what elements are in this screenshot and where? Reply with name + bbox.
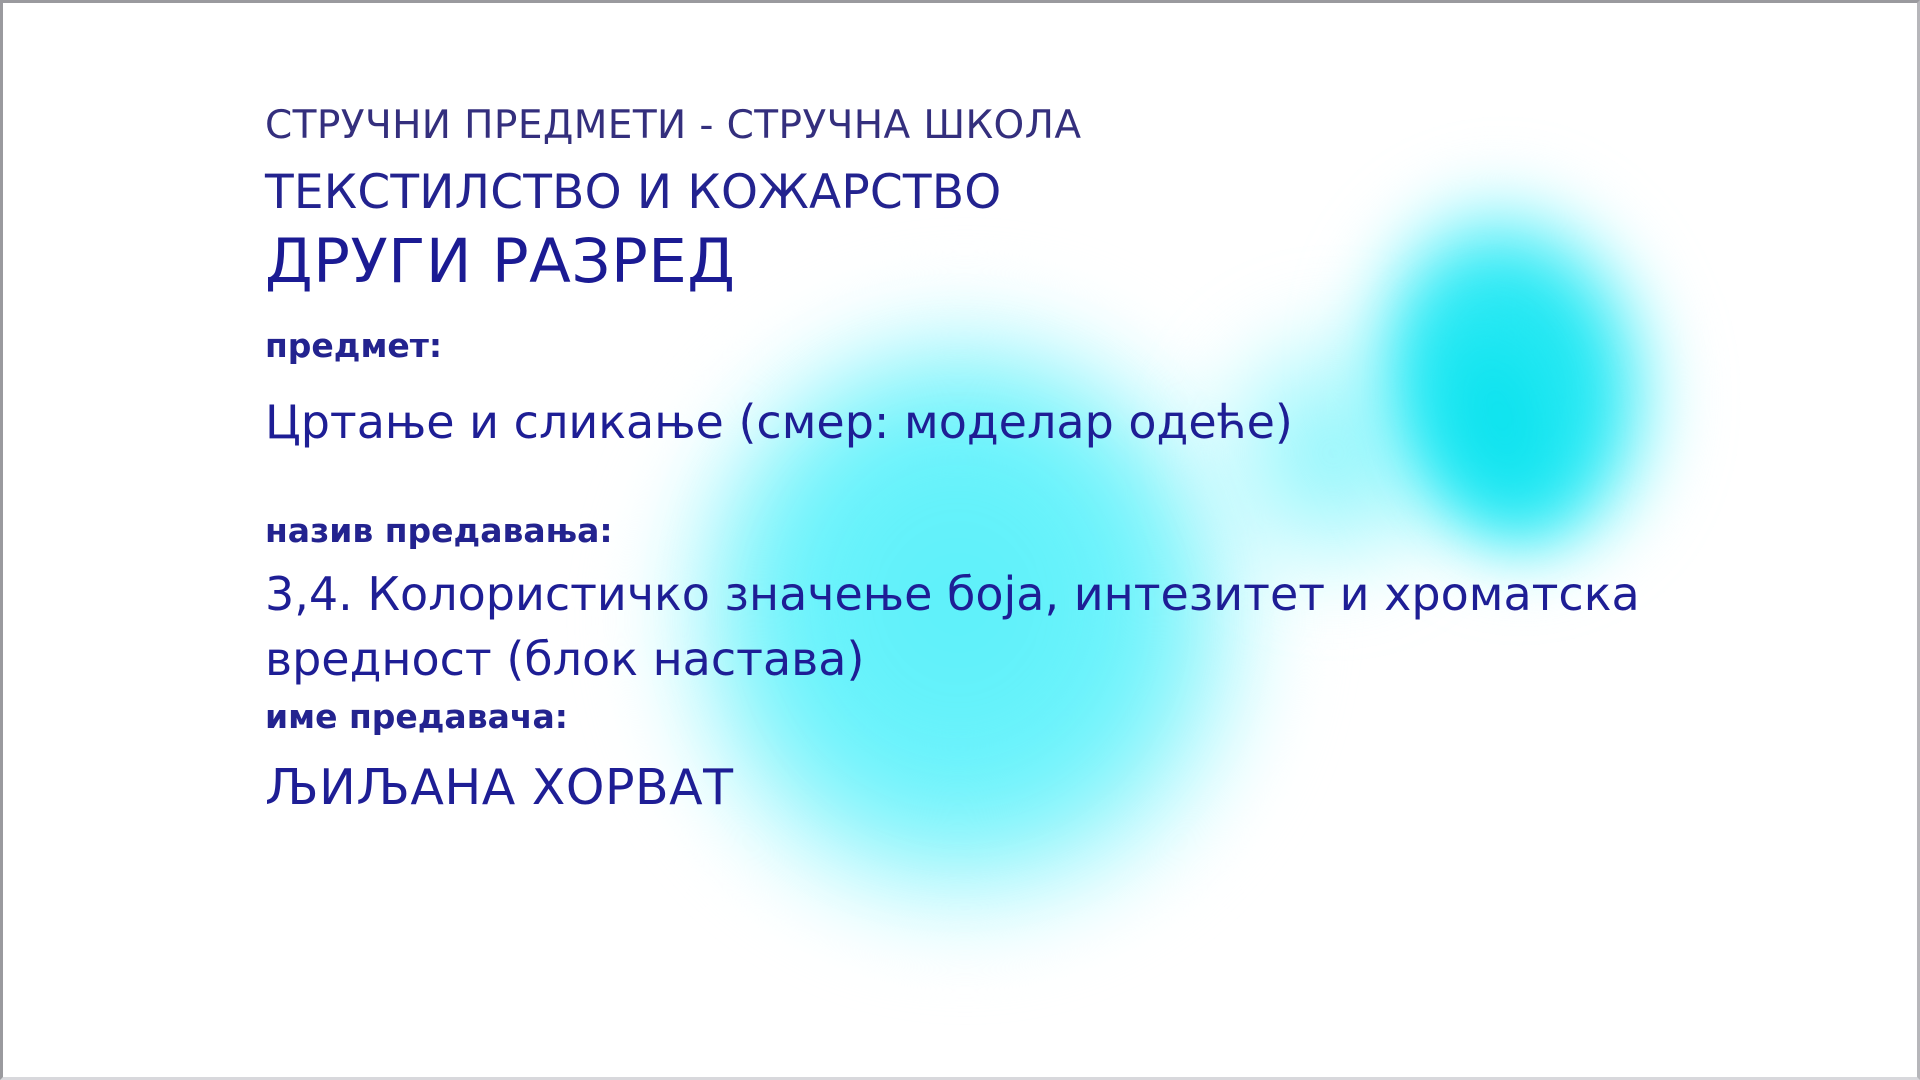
lecture-title-value-line-2: вредност (блок настава) [265,636,864,682]
slide-text-layer: СТРУЧНИ ПРЕДМЕТИ - СТРУЧНА ШКОЛА ТЕКСТИЛ… [3,3,1920,1080]
subject-label: предмет: [265,329,442,362]
header-department: ТЕКСТИЛСТВО И КОЖАРСТВО [265,169,1001,216]
header-subjects-school: СТРУЧНИ ПРЕДМЕТИ - СТРУЧНА ШКОЛА [265,106,1081,145]
lecturer-value: ЉИЉАНА ХОРВАТ [265,763,734,812]
lecturer-label: име предавача: [265,700,568,733]
subject-value: Цртање и сликање (смер: моделар одеће) [265,399,1293,445]
header-grade: ДРУГИ РАЗРЕД [265,231,735,292]
lecture-title-label: назив предавања: [265,514,613,547]
lesson-title-slide: СТРУЧНИ ПРЕДМЕТИ - СТРУЧНА ШКОЛА ТЕКСТИЛ… [0,0,1920,1080]
lecture-title-value-line-1: 3,4. Колористичко значење боја, интезите… [265,571,1640,617]
